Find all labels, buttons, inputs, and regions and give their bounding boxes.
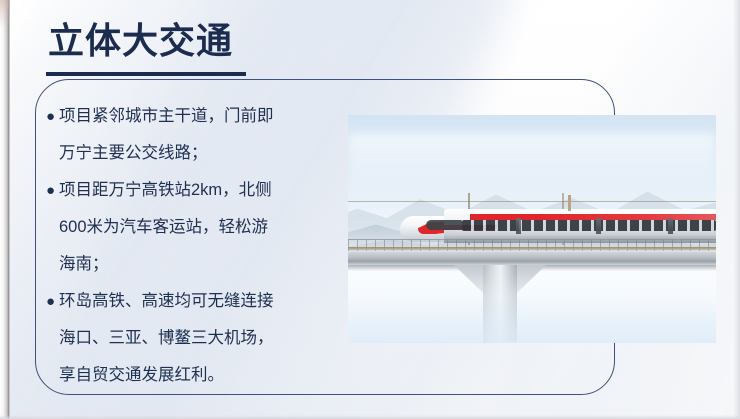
right-page-edge bbox=[734, 0, 740, 419]
catenary-wire bbox=[348, 201, 716, 202]
page-title: 立体大交通 bbox=[48, 20, 233, 61]
bullet-dot-icon: ● bbox=[46, 98, 55, 135]
viaduct-rail bbox=[348, 247, 716, 250]
bullet-line: 项目距万宁高铁站2km，北侧 bbox=[59, 172, 346, 209]
high-speed-train-on-viaduct-photo bbox=[348, 115, 716, 343]
photo-bottom-fog bbox=[348, 265, 716, 343]
train-pantograph bbox=[568, 195, 571, 211]
bullet-line: 万宁主要公交线路； bbox=[59, 135, 346, 172]
list-item: ● 项目距万宁高铁站2km，北侧 600米为汽车客运站，轻松游 海南； bbox=[46, 172, 346, 283]
bullet-line: 项目紧邻城市主干道，门前即 bbox=[59, 98, 346, 135]
bullet-dot-icon: ● bbox=[46, 283, 55, 320]
title-underline bbox=[46, 72, 246, 76]
train-cab-window bbox=[426, 220, 462, 230]
bullet-line: 600米为汽车客运站，轻松游 bbox=[59, 209, 346, 246]
train-door bbox=[596, 218, 601, 234]
bullet-line: 海南； bbox=[59, 246, 346, 283]
train-door bbox=[516, 218, 521, 234]
viaduct-deck bbox=[348, 252, 716, 265]
slide-canvas: 立体大交通 ● 项目紧邻城市主干道，门前即 万宁主要公交线路； ● 项目距万宁高… bbox=[0, 0, 740, 419]
left-page-gutter bbox=[0, 0, 10, 419]
bullet-line: 海口、三亚、博鳌三大机场， bbox=[59, 320, 346, 357]
bullet-dot-icon: ● bbox=[46, 172, 55, 209]
train-door bbox=[668, 218, 673, 234]
bullet-list: ● 项目紧邻城市主干道，门前即 万宁主要公交线路； ● 项目距万宁高铁站2km，… bbox=[46, 98, 346, 394]
high-speed-train bbox=[400, 209, 716, 243]
bullet-line: 享自贸交通发展红利。 bbox=[59, 357, 346, 394]
bottom-page-edge bbox=[0, 415, 740, 419]
left-gutter-tint bbox=[0, 0, 10, 28]
bullet-line: 环岛高铁、高速均可无缝连接 bbox=[59, 283, 346, 320]
photo-haze bbox=[348, 133, 716, 203]
list-item: ● 项目紧邻城市主干道，门前即 万宁主要公交线路； bbox=[46, 98, 346, 172]
train-passenger-windows bbox=[462, 220, 716, 231]
list-item: ● 环岛高铁、高速均可无缝连接 海口、三亚、博鳌三大机场， 享自贸交通发展红利。 bbox=[46, 283, 346, 394]
